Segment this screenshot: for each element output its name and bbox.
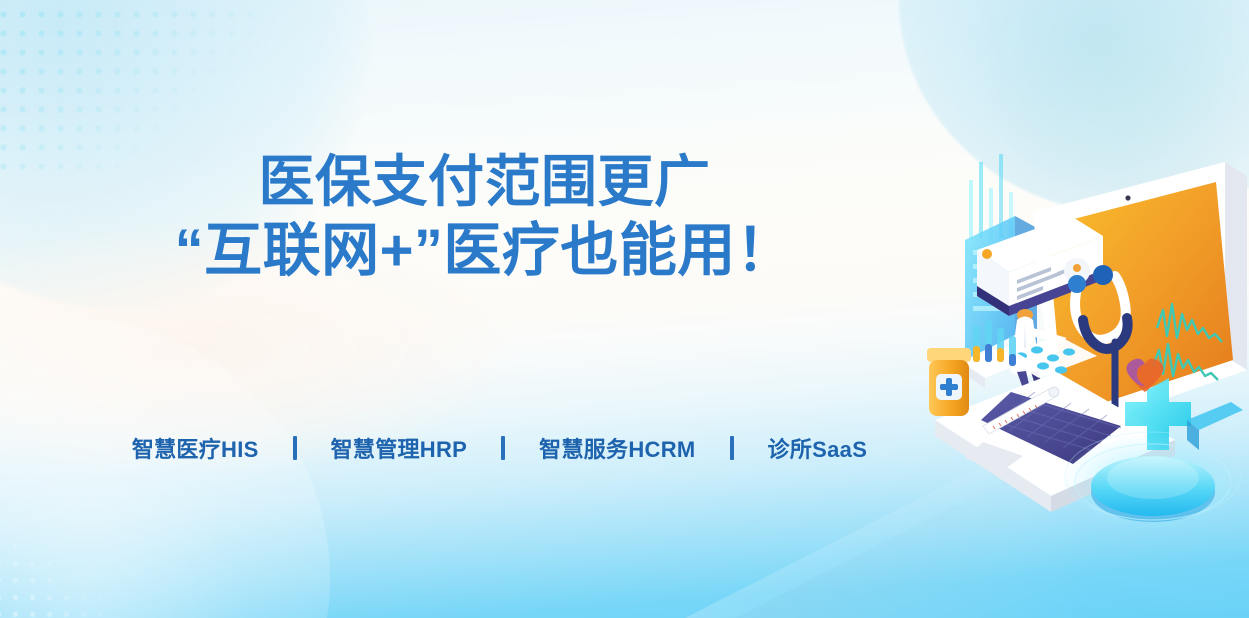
halftone-dots-bottom-icon [0,538,110,618]
headline-line-1: 医保支付范围更广 [0,148,969,216]
product-nav: 智慧医疗HIS 智慧管理HRP 智慧服务HCRM 诊所SaaS [0,432,1249,464]
nav-item-hcrm[interactable]: 智慧服务HCRM [533,432,701,464]
nav-separator-3 [730,436,734,460]
nav-item-his[interactable]: 智慧医疗HIS [126,432,265,464]
nav-item-hrp[interactable]: 智慧管理HRP [325,432,474,464]
page-title: 医保支付范围更广 “互联网+”医疗也能用！ [0,148,1249,287]
nav-item-saas[interactable]: 诊所SaaS [762,432,874,464]
blob-bottom-left [0,318,330,618]
blob-bottom-left-small [0,458,240,618]
promo-banner: 医保支付范围更广 “互联网+”医疗也能用！ 智慧医疗HIS 智慧管理HRP 智慧… [0,0,1249,618]
pill-bottle-icon [927,348,971,416]
nav-separator-2 [501,436,505,460]
nav-separator-1 [293,436,297,460]
headline-line-2: “互联网+”医疗也能用！ [0,216,969,287]
